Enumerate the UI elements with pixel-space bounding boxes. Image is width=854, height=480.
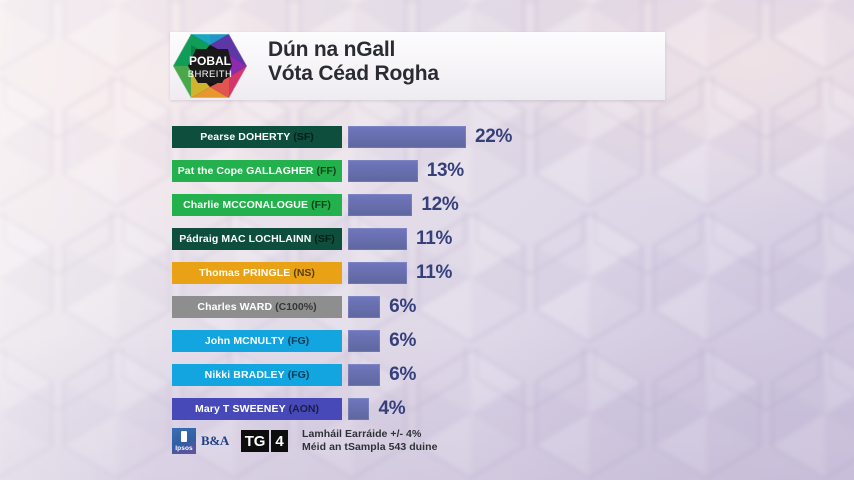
- bar-and-value: 12%: [348, 194, 459, 216]
- value-bar: [348, 364, 380, 386]
- methodology-note: Lamháil Earráide +/- 4% Méid an tSampla …: [302, 428, 437, 454]
- candidate-row: Charles WARD(C100%)6%: [172, 296, 512, 318]
- candidate-name: Thomas PRINGLE: [199, 267, 290, 279]
- value-label: 4%: [378, 398, 405, 420]
- value-label: 6%: [389, 330, 416, 352]
- party-abbreviation: (SF): [293, 131, 313, 143]
- ipsos-logo-icon: Ipsos: [172, 428, 196, 454]
- candidate-name: Pat the Cope GALLAGHER: [178, 165, 314, 177]
- header-title-block: Dún na nGall Vóta Céad Rogha: [268, 38, 439, 85]
- candidate-row: John MCNULTY(FG)6%: [172, 330, 512, 352]
- bar-and-value: 11%: [348, 228, 452, 250]
- value-bar: [348, 330, 380, 352]
- bar-and-value: 6%: [348, 296, 416, 318]
- candidate-name-box: Charlie MCCONALOGUE(FF): [172, 194, 342, 216]
- bna-wordmark: B&A: [201, 433, 229, 449]
- candidate-name-box: Charles WARD(C100%): [172, 296, 342, 318]
- candidate-name-box: Pearse DOHERTY(SF): [172, 126, 342, 148]
- value-bar: [348, 228, 407, 250]
- value-label: 13%: [427, 160, 464, 182]
- candidate-name: Pearse DOHERTY: [200, 131, 290, 143]
- candidate-name-box: Pádraig MAC LOCHLAINN(SF): [172, 228, 342, 250]
- margin-of-error-text: Lamháil Earráide +/- 4%: [302, 428, 437, 441]
- logo-line2: BHREITH: [188, 69, 233, 80]
- value-bar: [348, 296, 380, 318]
- value-bar: [348, 262, 407, 284]
- candidate-name: John MCNULTY: [205, 335, 285, 347]
- value-label: 11%: [416, 262, 452, 284]
- tg4-logo-4: 4: [271, 430, 288, 452]
- party-abbreviation: (FG): [288, 369, 310, 381]
- candidate-name: Mary T SWEENEY: [195, 403, 286, 415]
- bar-and-value: 22%: [348, 126, 512, 148]
- value-bar: [348, 194, 412, 216]
- value-label: 22%: [475, 126, 512, 148]
- party-abbreviation: (SF): [314, 233, 334, 245]
- candidate-name: Pádraig MAC LOCHLAINN: [179, 233, 311, 245]
- pobal-bhreith-logo-icon: POBAL BHREITH: [172, 33, 248, 99]
- bar-and-value: 6%: [348, 330, 416, 352]
- party-abbreviation: (AON): [289, 403, 319, 415]
- candidate-row: Pat the Cope GALLAGHER(FF)13%: [172, 160, 512, 182]
- value-bar: [348, 160, 418, 182]
- ipsos-wordmark: Ipsos: [175, 445, 192, 452]
- footer: Ipsos B&A TG 4 Lamháil Earráide +/- 4% M…: [172, 428, 437, 454]
- candidate-row: Mary T SWEENEY(AON)4%: [172, 398, 512, 420]
- bar-and-value: 13%: [348, 160, 464, 182]
- bar-and-value: 6%: [348, 364, 416, 386]
- page-subtitle: Vóta Céad Rogha: [268, 62, 439, 86]
- candidate-row: Nikki BRADLEY(FG)6%: [172, 364, 512, 386]
- candidate-row: Charlie MCCONALOGUE(FF)12%: [172, 194, 512, 216]
- bar-chart: Pearse DOHERTY(SF)22%Pat the Cope GALLAG…: [172, 126, 512, 432]
- candidate-name-box: John MCNULTY(FG): [172, 330, 342, 352]
- candidate-row: Pádraig MAC LOCHLAINN(SF)11%: [172, 228, 512, 250]
- value-label: 11%: [416, 228, 452, 250]
- tg4-logo-tg: TG: [241, 430, 269, 452]
- value-label: 6%: [389, 296, 416, 318]
- tg4-logo: TG 4: [241, 430, 288, 452]
- bar-and-value: 4%: [348, 398, 405, 420]
- value-bar: [348, 398, 369, 420]
- page-title: Dún na nGall: [268, 38, 439, 62]
- party-abbreviation: (NS): [293, 267, 315, 279]
- candidate-name: Nikki BRADLEY: [205, 369, 285, 381]
- candidate-name-box: Nikki BRADLEY(FG): [172, 364, 342, 386]
- candidate-row: Thomas PRINGLE(NS)11%: [172, 262, 512, 284]
- sample-size-text: Méid an tSampla 543 duine: [302, 441, 437, 454]
- candidate-name-box: Pat the Cope GALLAGHER(FF): [172, 160, 342, 182]
- value-bar: [348, 126, 466, 148]
- candidate-name: Charlie MCCONALOGUE: [183, 199, 308, 211]
- ipsos-glyph-icon: [181, 431, 187, 442]
- party-abbreviation: (C100%): [275, 301, 316, 313]
- value-label: 6%: [389, 364, 416, 386]
- party-abbreviation: (FG): [288, 335, 310, 347]
- candidate-row: Pearse DOHERTY(SF)22%: [172, 126, 512, 148]
- candidate-name-box: Thomas PRINGLE(NS): [172, 262, 342, 284]
- logo-line1: POBAL: [189, 54, 231, 68]
- ipsos-bna-logo: Ipsos B&A: [172, 428, 229, 454]
- value-label: 12%: [421, 194, 458, 216]
- bar-and-value: 11%: [348, 262, 452, 284]
- candidate-name: Charles WARD: [197, 301, 272, 313]
- party-abbreviation: (FF): [316, 165, 336, 177]
- poll-graphic: POBAL BHREITH Dún na nGall Vóta Céad Rog…: [0, 0, 854, 480]
- candidate-name-box: Mary T SWEENEY(AON): [172, 398, 342, 420]
- party-abbreviation: (FF): [311, 199, 331, 211]
